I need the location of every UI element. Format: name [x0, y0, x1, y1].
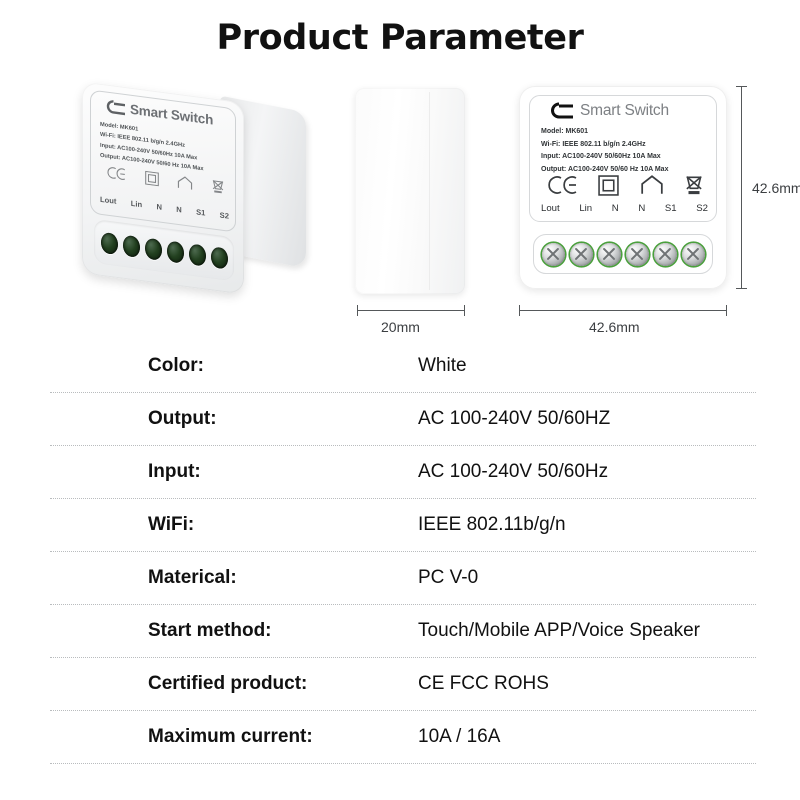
terminal-hole	[189, 243, 206, 266]
device-spec-text: Model: MK601 Wi-Fi: IEEE 802.11 b/g/n 2.…	[541, 126, 712, 176]
dimension-rule-side-width	[357, 305, 465, 317]
terminal-label: S2	[696, 203, 708, 214]
terminal-label: S1	[196, 207, 205, 217]
device-side-seam	[429, 92, 430, 290]
spec-key: Input:	[148, 461, 201, 483]
double-insulation-icon	[145, 170, 159, 186]
device-label-plate: Smart Switch Model: MK601 Wi-Fi: IEEE 80…	[529, 95, 717, 222]
terminal-label: Lin	[131, 199, 142, 209]
spec-line-input: Input: AC100-240V 50/60Hz 10A Max	[541, 151, 712, 164]
terminal-label: N	[176, 205, 181, 215]
spec-line-model: Model: MK601	[541, 126, 712, 139]
terminal-label: S1	[665, 203, 677, 214]
dimension-bar	[741, 86, 742, 289]
dimension-bar	[357, 310, 465, 311]
spec-key: WiFi:	[148, 514, 194, 536]
table-row: Input: AC 100-240V 50/60Hz	[50, 446, 756, 499]
terminal-block	[533, 234, 713, 274]
spec-value: PC V-0	[418, 567, 478, 589]
device-perspective-view: Smart Switch Model: MK601 Wi-Fi: IEEE 80…	[72, 84, 312, 294]
certification-icons	[548, 174, 704, 196]
terminal-label: N	[638, 203, 645, 214]
dimension-label-side-width: 20mm	[381, 319, 420, 335]
device-label-plate-3d: Smart Switch Model: MK601 Wi-Fi: IEEE 80…	[90, 89, 236, 232]
product-figure-group: Smart Switch Model: MK601 Wi-Fi: IEEE 80…	[0, 72, 800, 334]
device-side-view	[355, 88, 465, 294]
weee-crossed-bin-icon	[211, 178, 225, 195]
ce-mark-icon	[548, 175, 578, 195]
terminal-screw	[598, 243, 621, 266]
spec-key: Output:	[148, 408, 217, 430]
terminal-hole	[101, 231, 118, 254]
spec-key: Color:	[148, 355, 204, 377]
weee-crossed-bin-icon	[684, 174, 704, 196]
terminal-screw	[542, 243, 565, 266]
spec-key: Start method:	[148, 620, 272, 642]
table-row: Output: AC 100-240V 50/60HZ	[50, 393, 756, 446]
terminal-hole	[123, 234, 140, 257]
table-row: Certified product: CE FCC ROHS	[50, 658, 756, 711]
spec-key: Materical:	[148, 567, 237, 589]
spec-key: Maximum current:	[148, 726, 313, 748]
indoor-use-house-icon	[177, 174, 193, 190]
terminal-label: S2	[220, 210, 229, 220]
terminal-hole	[211, 246, 228, 269]
table-row: Start method: Touch/Mobile APP/Voice Spe…	[50, 605, 756, 658]
terminal-hole	[145, 237, 162, 260]
terminal-hole	[167, 240, 184, 263]
dimension-label-front-width: 42.6mm	[589, 319, 640, 335]
terminal-label: Lout	[541, 203, 560, 214]
terminal-label: N	[612, 203, 619, 214]
table-row: Maximum current: 10A / 16A	[50, 711, 756, 764]
terminal-screw	[570, 243, 593, 266]
spec-value: AC 100-240V 50/60HZ	[418, 408, 610, 430]
table-row: Color: White	[50, 340, 756, 393]
device-front-view: Smart Switch Model: MK601 Wi-Fi: IEEE 80…	[519, 86, 727, 289]
spec-table: Color: White Output: AC 100-240V 50/60HZ…	[0, 340, 800, 764]
dimension-bar	[519, 310, 727, 311]
dimension-cap-bottom	[736, 288, 747, 289]
brand-logo: Smart Switch	[544, 101, 669, 120]
device-side-body	[355, 88, 465, 294]
brand-name: Smart Switch	[580, 102, 669, 120]
dimension-rule-front-height	[736, 86, 748, 289]
terminal-label: Lout	[100, 195, 116, 206]
dimension-cap-right	[726, 305, 727, 316]
device-body-front-3d: Smart Switch Model: MK601 Wi-Fi: IEEE 80…	[82, 81, 244, 294]
spec-value: 10A / 16A	[418, 726, 500, 748]
dimension-cap-right	[464, 305, 465, 316]
spec-line-wifi: Wi-Fi: IEEE 802.11 b/g/n 2.4GHz	[541, 139, 712, 152]
terminal-screw	[682, 243, 705, 266]
terminal-labels-3d: Lout Lin N N S1 S2	[100, 195, 229, 221]
switch-logo-icon	[101, 98, 127, 116]
spec-value: White	[418, 355, 467, 377]
dimension-rule-front-width	[519, 305, 727, 317]
terminal-labels: Lout Lin N N S1 S2	[541, 203, 708, 214]
terminal-label: N	[156, 202, 161, 212]
double-insulation-icon	[598, 175, 619, 196]
dimension-label-front-height: 42.6mm	[752, 180, 800, 196]
spec-key: Certified product:	[148, 673, 307, 695]
spec-value: Touch/Mobile APP/Voice Speaker	[418, 620, 700, 642]
table-row: WiFi: IEEE 802.11b/g/n	[50, 499, 756, 552]
table-row: Materical: PC V-0	[50, 552, 756, 605]
spec-value: CE FCC ROHS	[418, 673, 549, 695]
terminal-screw	[654, 243, 677, 266]
spec-value: IEEE 802.11b/g/n	[418, 514, 566, 536]
terminal-label: Lin	[579, 203, 592, 214]
indoor-use-house-icon	[640, 175, 664, 195]
page-title: Product Parameter	[0, 18, 800, 58]
spec-value: AC 100-240V 50/60Hz	[418, 461, 608, 483]
switch-logo-icon	[544, 101, 576, 120]
brand-name-3d: Smart Switch	[130, 102, 213, 128]
terminal-screw	[626, 243, 649, 266]
ce-mark-icon	[107, 166, 127, 182]
